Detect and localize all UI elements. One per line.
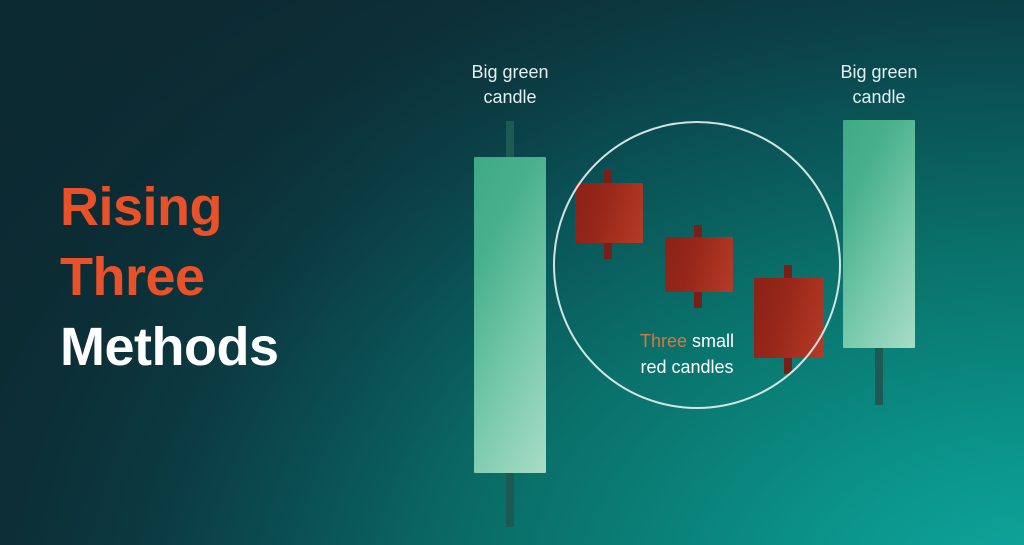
label-three-small-red-candles: Three small red candles: [602, 328, 772, 380]
annotation-rest-line1: small: [687, 331, 734, 351]
annotation-line1: Three small: [602, 328, 772, 354]
rising-three-methods-graphic: Rising Three Methods: [0, 0, 1024, 545]
annotation-line2: red candles: [602, 354, 772, 380]
label-big-green-candle-right: Big green candle: [799, 60, 959, 110]
label-left-line1: Big green: [430, 60, 590, 85]
annotation-accent-word: Three: [640, 331, 687, 351]
label-right-line2: candle: [799, 85, 959, 110]
green-candle-right-body: [843, 120, 915, 348]
label-left-line2: candle: [430, 85, 590, 110]
green-candle-left-body: [474, 157, 546, 473]
label-right-line1: Big green: [799, 60, 959, 85]
label-big-green-candle-left: Big green candle: [430, 60, 590, 110]
